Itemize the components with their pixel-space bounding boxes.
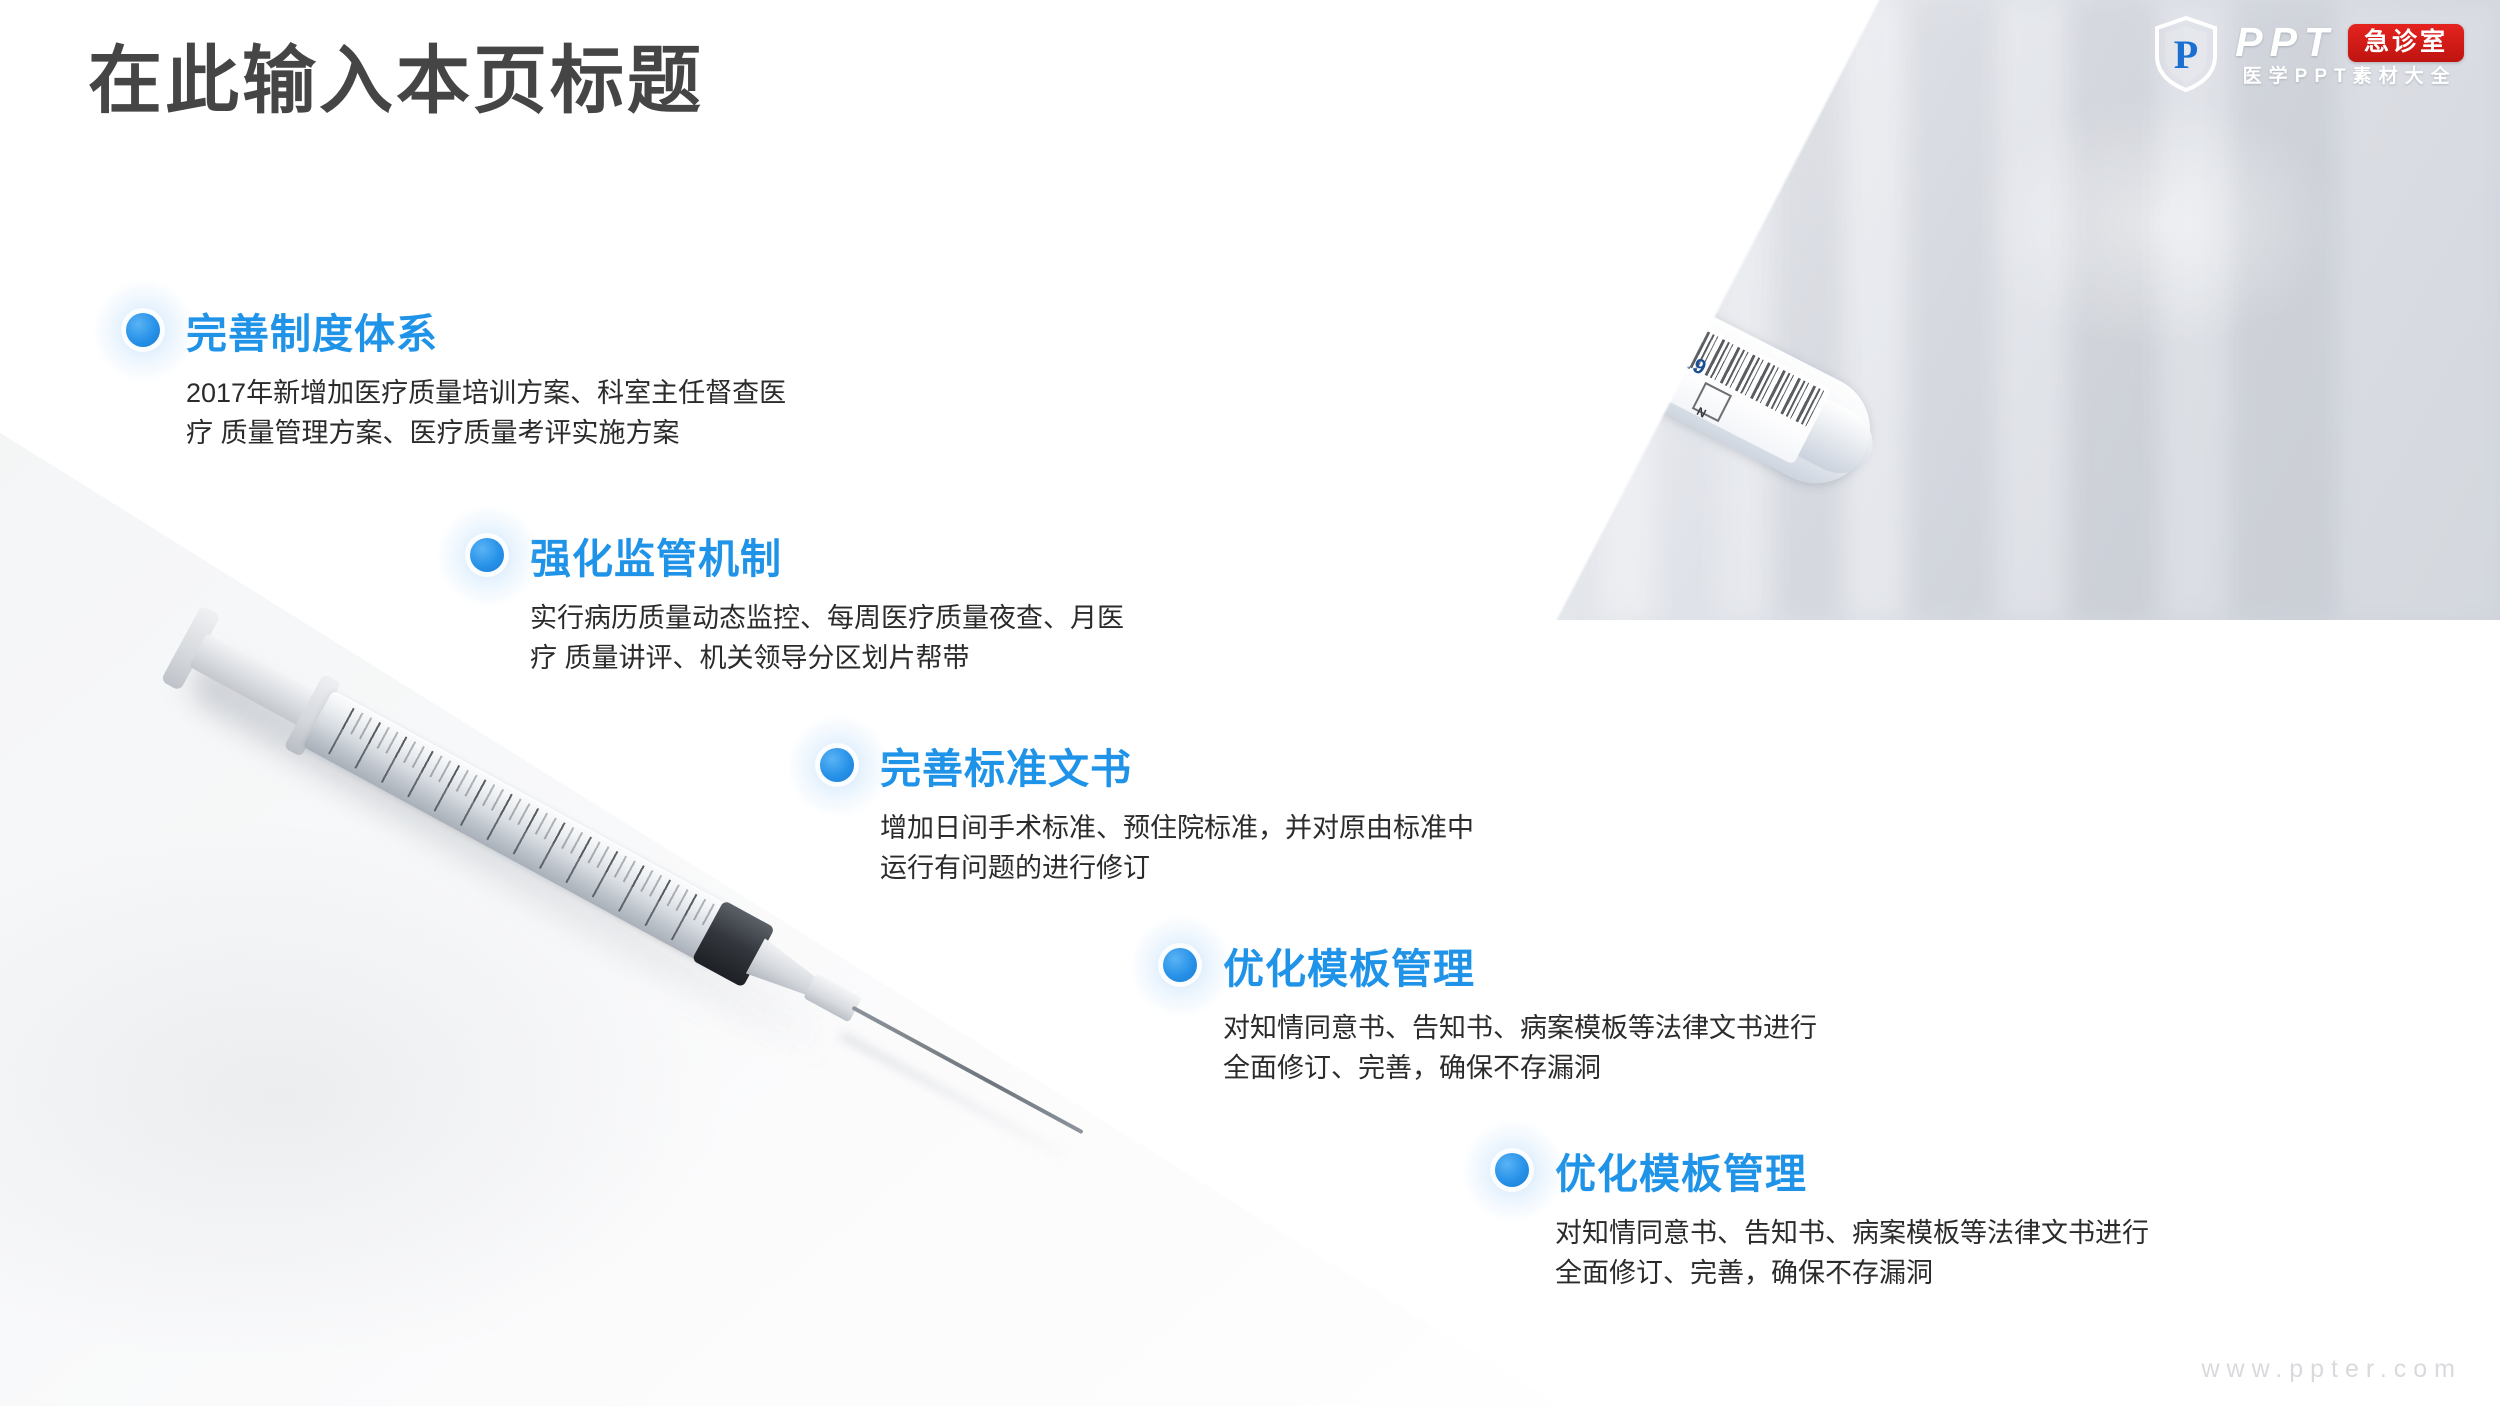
- bullet-dot-icon: [820, 748, 854, 782]
- bullet-body-line: 疗 质量讲评、机关领导分区划片帮带: [530, 639, 1124, 679]
- bullet-heading-row: 完善制度体系: [126, 300, 786, 360]
- bullet-dot-wrap: [820, 748, 854, 782]
- bullet-title: 完善制度体系: [186, 300, 438, 360]
- bullet-dot-wrap: [1495, 1153, 1529, 1187]
- bullet-heading-row: 优化模板管理: [1163, 935, 1817, 995]
- syringe-barrel: [302, 690, 746, 971]
- bullet-dot-wrap: [1163, 948, 1197, 982]
- bullet-dot-icon: [126, 313, 160, 347]
- shield-icon: P: [2153, 16, 2219, 92]
- svg-text:P: P: [2174, 32, 2198, 77]
- bullet-block-1: 完善制度体系 2017年新增加医疗质量培训方案、科室主任督查医 疗 质量管理方案…: [126, 300, 786, 454]
- bullet-body-line: 运行有问题的进行修订: [880, 849, 1474, 889]
- bullet-block-4: 优化模板管理 对知情同意书、告知书、病案模板等法律文书进行 全面修订、完善，确保…: [1163, 935, 1817, 1089]
- logo-text-group: PPT 急诊室 医学PPT素材大全: [2235, 22, 2464, 86]
- needle-shadow: [841, 1033, 1063, 1157]
- bullet-body: 2017年新增加医疗质量培训方案、科室主任督查医 疗 质量管理方案、医疗质量考评…: [186, 374, 786, 454]
- bullet-dot-icon: [1163, 948, 1197, 982]
- bullet-title: 优化模板管理: [1223, 935, 1475, 995]
- bullet-body-line: 对知情同意书、告知书、病案模板等法律文书进行: [1555, 1214, 2149, 1254]
- bullet-dot-icon: [470, 538, 504, 572]
- logo-brand-text: PPT: [2235, 22, 2336, 63]
- logo-primary-row: PPT 急诊室: [2235, 22, 2464, 63]
- bullet-block-2: 强化监管机制 实行病历质量动态监控、每周医疗质量夜查、月医 疗 质量讲评、机关领…: [470, 525, 1124, 679]
- bullet-dot-wrap: [126, 313, 160, 347]
- slide-canvas: PRUEBA COVID-19 ✓ P N: [0, 0, 2500, 1406]
- bullet-body: 增加日间手术标准、预住院标准，并对原由标准中 运行有问题的进行修订: [880, 809, 1474, 889]
- bullet-body: 对知情同意书、告知书、病案模板等法律文书进行 全面修订、完善，确保不存漏洞: [1223, 1009, 1817, 1089]
- logo-tagline: 医学PPT素材大全: [2235, 67, 2464, 86]
- bullet-dot-wrap: [470, 538, 504, 572]
- bullet-body-line: 全面修订、完善，确保不存漏洞: [1555, 1254, 2149, 1294]
- logo-badge: 急诊室: [2348, 24, 2464, 62]
- needle: [851, 1006, 1083, 1135]
- bullet-title: 完善标准文书: [880, 735, 1132, 795]
- bullet-body: 对知情同意书、告知书、病案模板等法律文书进行 全面修订、完善，确保不存漏洞: [1555, 1214, 2149, 1294]
- bullet-body-line: 2017年新增加医疗质量培训方案、科室主任督查医: [186, 374, 786, 414]
- bullet-title: 强化监管机制: [530, 525, 782, 585]
- bullet-heading-row: 强化监管机制: [470, 525, 1124, 585]
- bullet-heading-row: 完善标准文书: [820, 735, 1474, 795]
- bullet-body-line: 实行病历质量动态监控、每周医疗质量夜查、月医: [530, 599, 1124, 639]
- bullet-body-line: 增加日间手术标准、预住院标准，并对原由标准中: [880, 809, 1474, 849]
- bullet-body: 实行病历质量动态监控、每周医疗质量夜查、月医 疗 质量讲评、机关领导分区划片帮带: [530, 599, 1124, 679]
- bullet-body-line: 疗 质量管理方案、医疗质量考评实施方案: [186, 414, 786, 454]
- bullet-title: 优化模板管理: [1555, 1140, 1807, 1200]
- bullet-dot-icon: [1495, 1153, 1529, 1187]
- footer-watermark: www.ppter.com: [2201, 1355, 2462, 1384]
- brand-logo: P PPT 急诊室 医学PPT素材大全: [2153, 16, 2464, 92]
- bullet-block-5: 优化模板管理 对知情同意书、告知书、病案模板等法律文书进行 全面修订、完善，确保…: [1495, 1140, 2149, 1294]
- bullet-heading-row: 优化模板管理: [1495, 1140, 2149, 1200]
- bullet-block-3: 完善标准文书 增加日间手术标准、预住院标准，并对原由标准中 运行有问题的进行修订: [820, 735, 1474, 889]
- bullet-body-line: 对知情同意书、告知书、病案模板等法律文书进行: [1223, 1009, 1817, 1049]
- page-title: 在此输入本页标题: [88, 44, 704, 118]
- bullet-body-line: 全面修订、完善，确保不存漏洞: [1223, 1049, 1817, 1089]
